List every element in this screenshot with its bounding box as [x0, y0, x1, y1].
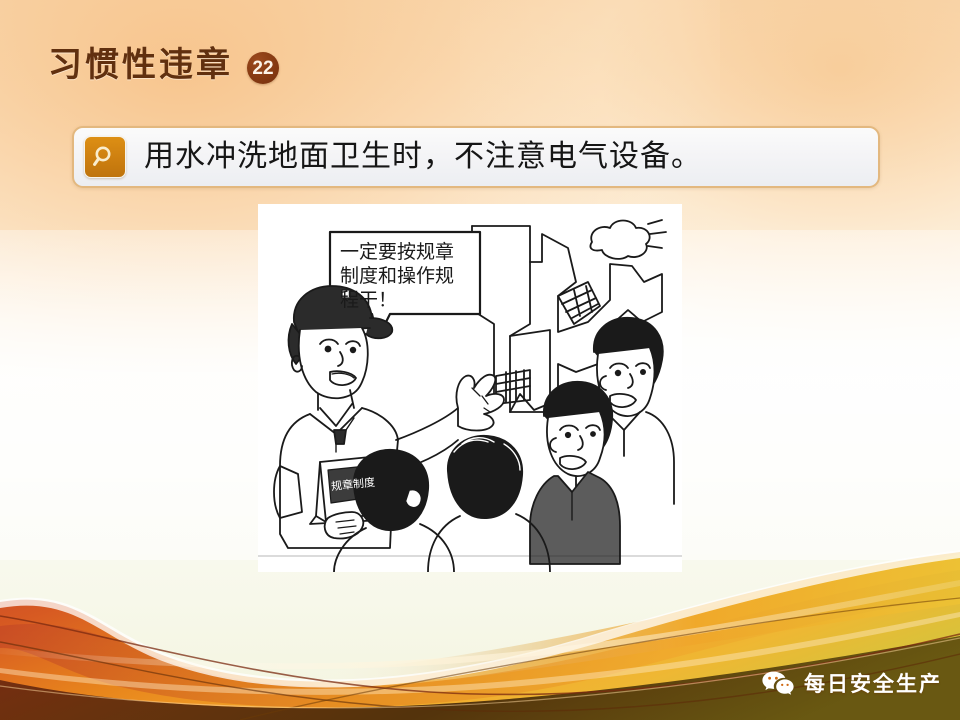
page-title: 习惯性违章 — [48, 49, 233, 83]
svg-text:程干！: 程干！ — [340, 289, 397, 311]
page-number-badge: 22 — [247, 52, 279, 84]
statement-text: 用水冲洗地面卫生时，不注意电气设备。 — [126, 142, 878, 172]
watermark-label: 每日安全生产 — [804, 674, 942, 695]
page-title-row: 习惯性违章 22 — [48, 48, 279, 84]
svg-text:制度和操作规: 制度和操作规 — [340, 265, 454, 287]
search-icon — [84, 136, 126, 178]
wechat-icon — [761, 670, 795, 698]
slide-root: 习惯性违章 22 用水冲洗地面卫生时，不注意电气设备。 — [0, 0, 960, 720]
illustration-drawing: 一定要按规章 制度和操作规 程干！ 规章制度 — [258, 204, 682, 572]
speech-bubble-line-1: 一定要按规章 — [340, 241, 454, 263]
statement-bar: 用水冲洗地面卫生时，不注意电气设备。 — [72, 126, 880, 188]
illustration-panel: 一定要按规章 制度和操作规 程干！ 规章制度 — [258, 204, 682, 572]
watermark: 每日安全生产 — [761, 670, 942, 698]
